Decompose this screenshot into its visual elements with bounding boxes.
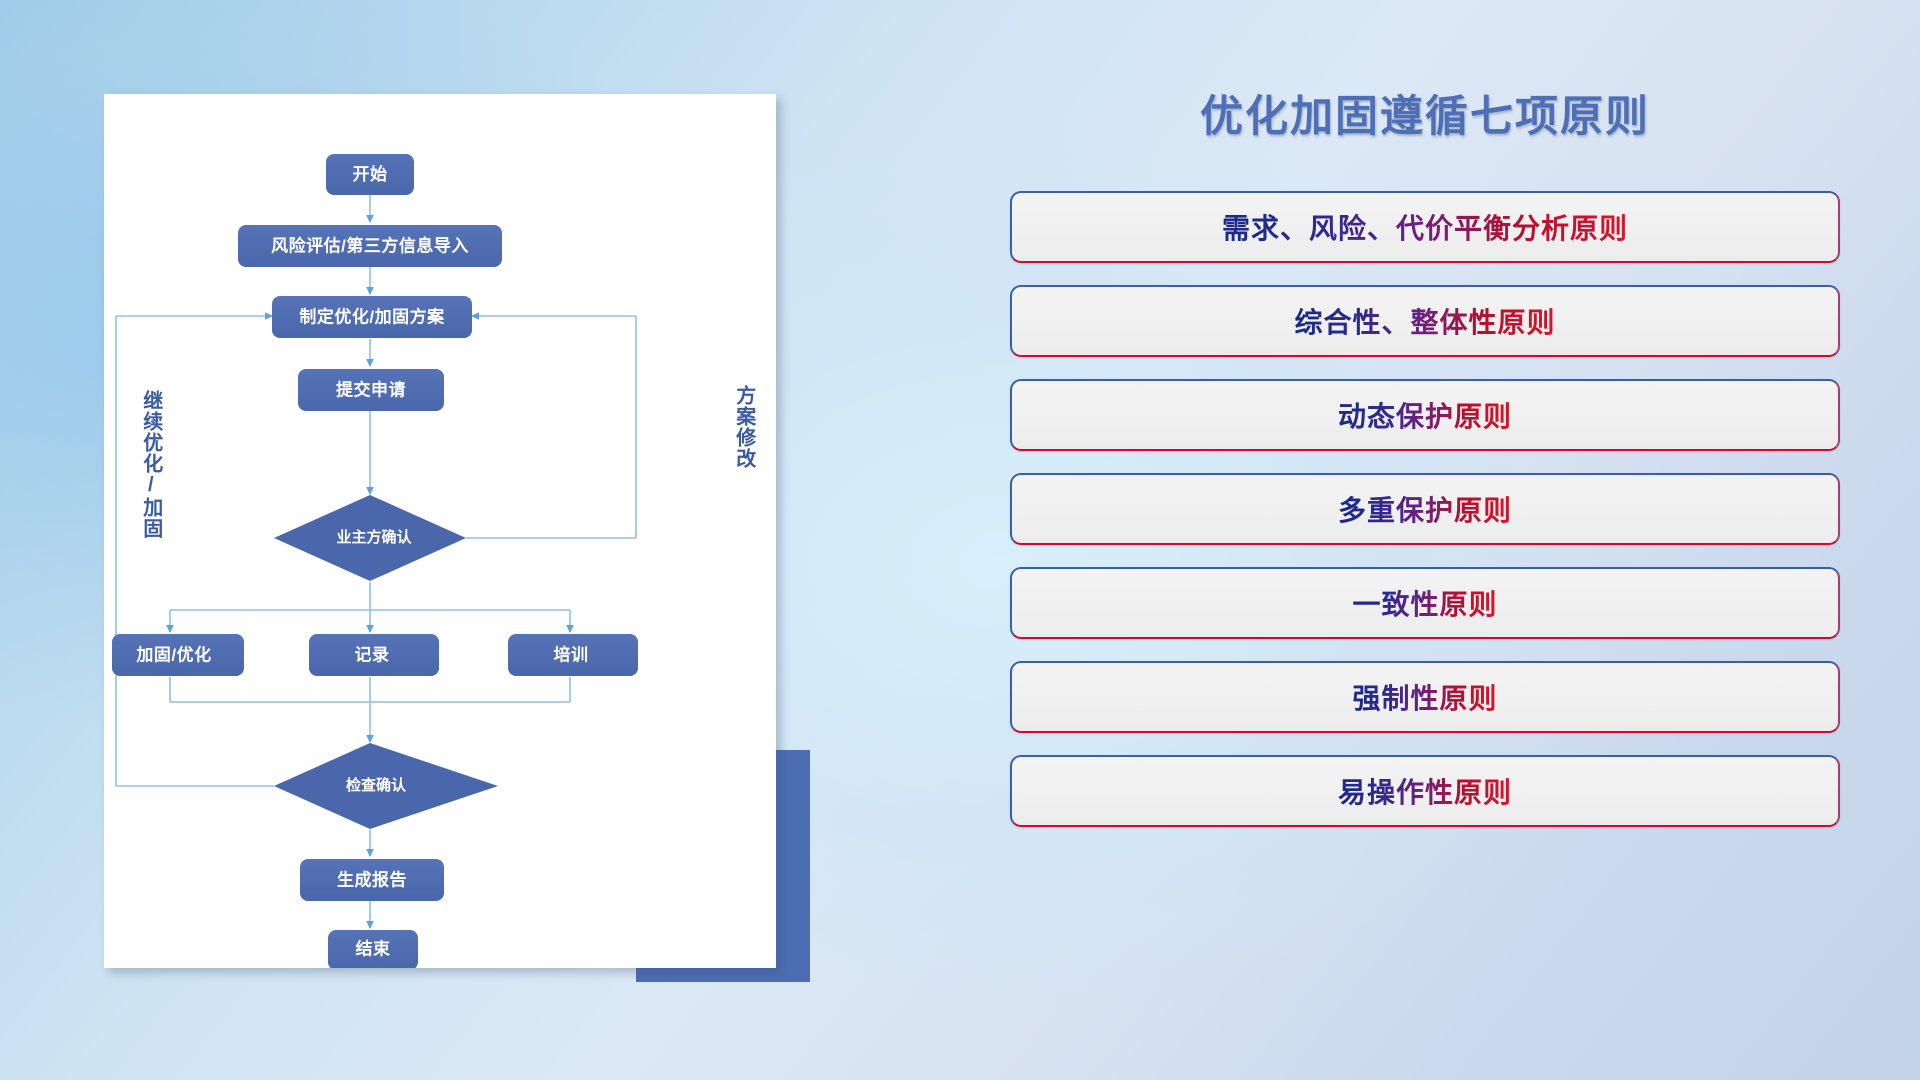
slide-canvas: 开始 风险评估/第三方信息导入 制定优化/加固方案 提交申请 业主方确认 [0,0,1920,1080]
flow-node-reinforce-label: 加固/优化 [135,644,211,664]
flow-node-report-label: 生成报告 [337,869,407,889]
principle-item[interactable]: 一致性原则 [1010,567,1840,639]
flow-node-record-label: 记录 [355,645,390,664]
principle-item[interactable]: 易操作性原则 [1010,755,1840,827]
flow-node-report[interactable]: 生成报告 [300,859,444,901]
flowchart-svg: 开始 风险评估/第三方信息导入 制定优化/加固方案 提交申请 业主方确认 [104,94,776,968]
principle-item-label: 易操作性原则 [1338,771,1512,811]
flow-node-checkok[interactable]: 检查确认 [274,743,498,829]
principle-item[interactable]: 多重保护原则 [1010,473,1840,545]
flow-node-risk-label: 风险评估/第三方信息导入 [271,235,469,255]
principle-item-label: 多重保护原则 [1338,489,1512,529]
principle-item-label: 综合性、整体性原则 [1294,301,1555,341]
flow-node-checkok-label: 检查确认 [346,776,407,794]
flow-node-reinforce[interactable]: 加固/优化 [112,634,244,676]
principles-title: 优化加固遵循七项原则 [1010,96,1840,139]
principles-list: 需求、风险、代价平衡分析原则 综合性、整体性原则 动态保护原则 多重保护原则 一… [1010,191,1840,827]
principle-item-label: 需求、风险、代价平衡分析原则 [1222,207,1628,247]
flow-node-risk[interactable]: 风险评估/第三方信息导入 [238,225,502,267]
flow-node-end[interactable]: 结束 [328,930,418,968]
principle-item-label: 动态保护原则 [1338,395,1512,435]
principle-item[interactable]: 需求、风险、代价平衡分析原则 [1010,191,1840,263]
flow-node-train[interactable]: 培训 [508,634,638,676]
edge-label-left-loop: 继续优化/加固 [140,390,161,539]
flow-node-end-label: 结束 [356,938,391,958]
flowchart-card: 开始 风险评估/第三方信息导入 制定优化/加固方案 提交申请 业主方确认 [104,94,776,968]
principle-item[interactable]: 动态保护原则 [1010,379,1840,451]
edge-label-right-loop: 方案修改 [733,385,754,469]
principle-item[interactable]: 综合性、整体性原则 [1010,285,1840,357]
flow-node-start-label: 开始 [353,164,388,184]
flow-node-train-label: 培训 [554,644,589,664]
principles-pane: 优化加固遵循七项原则 需求、风险、代价平衡分析原则 综合性、整体性原则 动态保护… [1010,96,1840,1006]
flow-node-plan-label: 制定优化/加固方案 [299,306,445,326]
principle-item-label: 一致性原则 [1352,583,1497,623]
flow-node-ownerok-label: 业主方确认 [336,528,412,546]
principle-item-label: 强制性原则 [1352,677,1497,717]
flow-node-ownerok[interactable]: 业主方确认 [274,495,466,581]
flow-node-start[interactable]: 开始 [326,154,414,195]
flow-node-submit-label: 提交申请 [336,379,406,399]
principle-item[interactable]: 强制性原则 [1010,661,1840,733]
flow-node-plan[interactable]: 制定优化/加固方案 [272,296,472,338]
flow-node-record[interactable]: 记录 [309,634,439,676]
flow-node-submit[interactable]: 提交申请 [298,369,444,411]
